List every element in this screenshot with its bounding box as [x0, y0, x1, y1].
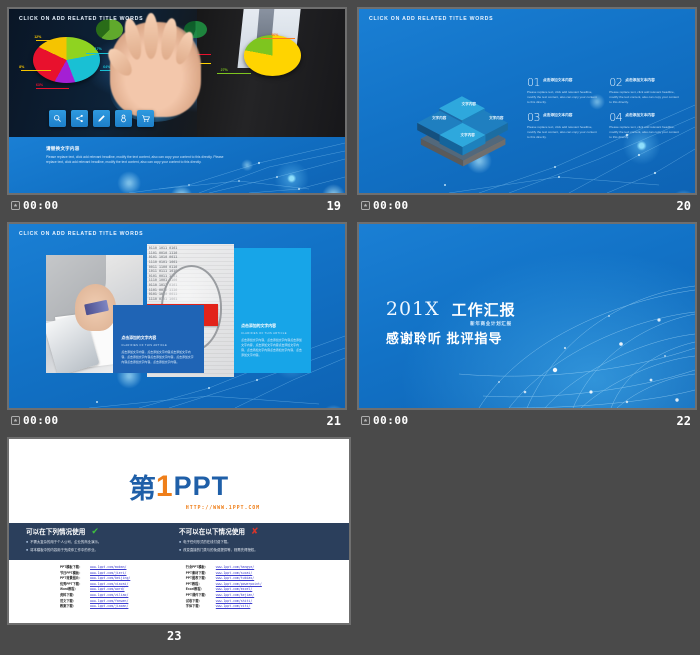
logo-suffix: PPT: [174, 471, 230, 502]
brand-logo: 第 1 PPT HTTP://WWW.1PPT.COM: [9, 461, 349, 513]
iso-label-2: 文字内容: [422, 114, 456, 124]
chart-pct-9: 27%: [221, 68, 228, 72]
slide-cell-21[interactable]: 0110 1011 01011101 0010 11100101 1010 00…: [7, 222, 347, 432]
slide-cell-23[interactable]: 第 1 PPT HTTP://WWW.1PPT.COM 可以在下列情况使用✔ ■…: [7, 437, 347, 647]
isometric-blocks: [406, 83, 520, 168]
slide-23-number: 23: [167, 629, 181, 643]
panel-right-sub: CLARIFIES OF THIS ARTICLE: [241, 332, 304, 335]
slide-22-timer: 00:00: [361, 414, 409, 427]
item-04-label: 点击添加文本内容: [625, 112, 655, 118]
link-row[interactable]: 优秀PPT下载：www.1ppt.com/xiazai/: [60, 581, 130, 586]
link-row[interactable]: Excel教程：www.1ppt.com/excel/: [186, 586, 262, 591]
isometric-diagram: 文字内容 文字内容 文字内容 文字内容: [406, 83, 520, 168]
panel-right-text: 点击添加文字内容，点击添加文字内容点击添加文字内容，点击添加文字内容点击添加文字…: [241, 338, 304, 358]
iso-label-1: 文字内容: [452, 100, 486, 110]
item-02-text: Please replace text, click add relevant …: [609, 90, 681, 105]
slide-21-timer: 00:00: [11, 414, 59, 427]
slide-cell-20[interactable]: 文字内容 文字内容 文字内容 文字内容 01点击添加文本内容 Please re…: [357, 7, 697, 217]
finger-index: [122, 17, 144, 61]
iso-label-4: 文字内容: [451, 131, 485, 141]
slide-23-footer: 23: [7, 625, 347, 647]
item-03-number: 03: [527, 112, 540, 123]
slide-thumbnail-grid: 12% 17% 8% 63% 10% 64% 40% 36% 27%: [0, 0, 700, 655]
allowed-item-2: ■将本模板中的内容用于完成你工作中的作业。: [26, 547, 172, 552]
hand: [110, 22, 201, 117]
slide-cell-19[interactable]: 12% 17% 8% 63% 10% 64% 40% 36% 27%: [7, 7, 347, 217]
slide-19-number: 19: [327, 199, 341, 213]
slide-20-title: CLICK ON ADD RELATED TITLE WORDS: [369, 16, 493, 22]
slide-cell-22[interactable]: 201X 工作汇报 新年商业计划汇报 感谢聆听 批评指导 00:00 22: [357, 222, 697, 432]
chart-pct-4: 63%: [36, 83, 43, 87]
chart-pct-3: 8%: [19, 65, 24, 69]
slide-19-footer: 00:00 19: [7, 195, 347, 217]
logo-prefix: 第: [129, 467, 155, 506]
chart-leader-9: [217, 73, 251, 74]
panel-right-heading: 点击添加的文字内容: [241, 323, 304, 329]
allowed-title: 可以在下列情况使用: [26, 526, 85, 536]
link-row[interactable]: PPT模板下载：www.1ppt.com/moban/: [60, 564, 130, 569]
slide-19-text-band: 请替换文字内容 Please replace text, click add r…: [9, 137, 345, 193]
search-icon[interactable]: [49, 110, 66, 127]
item-04-text: Please replace text, click add relevant …: [609, 125, 681, 140]
slide-19-title: CLICK ON ADD RELATED TITLE WORDS: [19, 16, 143, 22]
slide-19-body-text: Please replace text, click add relevant …: [46, 155, 224, 166]
allowed-column: 可以在下列情况使用✔ ■不需太复杂的用于个人公司、企业的商业演示。 ■将本模板中…: [26, 526, 172, 551]
closing-main-title: 工作汇报: [452, 299, 516, 320]
chart-leader-3: [21, 70, 51, 71]
panel-left-sub: CLARIFIES OF THIS ARTICLE: [121, 344, 195, 347]
item-02-label: 点击添加文本内容: [625, 77, 655, 83]
logo-one: 1: [156, 470, 173, 504]
item-04-number: 04: [609, 112, 622, 123]
resource-links: PPT模板下载：www.1ppt.com/moban/ 节日PPT模板：www.…: [9, 564, 349, 612]
item-04: 04点击添加文本内容 Please replace text, click ad…: [609, 112, 681, 140]
not-allowed-item-1: ■电子任何形式的在线付费下载。: [179, 539, 339, 544]
slide-20-number: 20: [677, 199, 691, 213]
stopwatch-icon: [11, 201, 20, 210]
links-right-column: 行业PPT模板：www.1ppt.com/hangye/ PPT素材下载：www…: [186, 564, 262, 609]
icon-tile-row[interactable]: [49, 110, 154, 127]
link-row[interactable]: 资料下载：www.1ppt.com/ziliao/: [60, 592, 130, 597]
slide-22-number: 22: [677, 414, 691, 428]
link-row[interactable]: Word教程：www.1ppt.com/word/: [60, 586, 130, 591]
finger-middle: [144, 13, 158, 58]
slide-20-timer: 00:00: [361, 199, 409, 212]
link-row[interactable]: 节日PPT模板：www.1ppt.com/jieri/: [60, 570, 130, 575]
link-row[interactable]: 行业PPT模板：www.1ppt.com/hangye/: [186, 564, 262, 569]
cart-icon[interactable]: [137, 110, 154, 127]
item-02: 02点击添加文本内容 Please replace text, click ad…: [609, 77, 681, 105]
item-03-text: Please replace text, click add relevant …: [527, 125, 599, 140]
slide-20-items: 01点击添加文本内容 Please replace text, click ad…: [527, 77, 682, 140]
not-allowed-column: 不可以在以下情况使用✘ ■电子任何形式的在线付费下载。 ■改变直接的门类与的免费…: [179, 526, 339, 551]
closing-subtitle: 新年商业计划汇报: [386, 321, 512, 327]
check-icon: ✔: [91, 527, 99, 536]
not-allowed-item-2: ■改变直接的门类与的免费提供等，则需先得授权。: [179, 547, 339, 552]
slide-21[interactable]: 0110 1011 01011101 0010 11100101 1010 00…: [7, 222, 347, 410]
item-01-text: Please replace text, click add relevant …: [527, 90, 599, 105]
slide-19-body: 请替换文字内容 Please replace text, click add r…: [46, 146, 224, 166]
chart-pct-8: 36%: [271, 33, 278, 37]
stopwatch-icon: [361, 201, 370, 210]
links-left-column: PPT模板下载：www.1ppt.com/moban/ 节日PPT模板：www.…: [60, 564, 130, 609]
user-icon[interactable]: [115, 110, 132, 127]
link-row[interactable]: PPT素材下载：www.1ppt.com/sucai/: [186, 570, 262, 575]
slide-23[interactable]: 第 1 PPT HTTP://WWW.1PPT.COM 可以在下列情况使用✔ ■…: [7, 437, 351, 625]
closing-year: 201X: [386, 298, 440, 320]
pencil-icon[interactable]: [93, 110, 110, 127]
link-row[interactable]: 字体下载：www.1ppt.com/ziti/: [186, 603, 262, 608]
logo-url: HTTP://WWW.1PPT.COM: [186, 505, 260, 511]
link-row[interactable]: PPT背景图片：www.1ppt.com/beijing/: [60, 575, 130, 580]
chart-leader-4: [36, 88, 70, 89]
text-panel-right: 点击添加的文字内容 CLARIFIES OF THIS ARTICLE 点击添加…: [234, 248, 311, 373]
slide-22[interactable]: 201X 工作汇报 新年商业计划汇报 感谢聆听 批评指导: [357, 222, 697, 410]
slide-19-photo: 12% 17% 8% 63% 10% 64% 40% 36% 27%: [9, 9, 345, 137]
slide-19[interactable]: 12% 17% 8% 63% 10% 64% 40% 36% 27%: [7, 7, 347, 195]
slide-21-footer: 00:00 21: [7, 410, 347, 432]
slide-22-footer: 00:00 22: [357, 410, 697, 432]
slide-22-closing: 201X 工作汇报 新年商业计划汇报 感谢聆听 批评指导: [386, 298, 516, 347]
chart-pct-1: 12%: [34, 35, 41, 39]
slide-21-title: CLICK ON ADD RELATED TITLE WORDS: [19, 231, 143, 237]
link-row[interactable]: PPT课件下载：www.1ppt.com/kejian/: [186, 592, 262, 597]
cross-icon: ✘: [251, 527, 259, 536]
item-01-label: 点击添加文本内容: [543, 77, 573, 83]
item-01-number: 01: [527, 77, 540, 88]
iso-label-3: 文字内容: [479, 114, 513, 124]
slide-19-body-heading: 请替换文字内容: [46, 146, 224, 152]
closing-thanks: 感谢聆听 批评指导: [386, 328, 516, 347]
item-01: 01点击添加文本内容 Please replace text, click ad…: [527, 77, 599, 105]
share-icon[interactable]: [71, 110, 88, 127]
link-row[interactable]: PPT图表下载：www.1ppt.com/tubiao/: [186, 575, 262, 580]
allowed-item-1: ■不需太复杂的用于个人公司、企业的商业演示。: [26, 539, 172, 544]
panel-left-heading: 点击添加的文字内容: [121, 335, 195, 341]
link-row[interactable]: PPT教程：www.1ppt.com/powerpoint/: [186, 581, 262, 586]
chart-leader-1: [36, 40, 66, 41]
not-allowed-title: 不可以在以下情况使用: [179, 526, 245, 536]
slide-20-footer: 00:00 20: [357, 195, 697, 217]
slide-20[interactable]: 文字内容 文字内容 文字内容 文字内容 01点击添加文本内容 Please re…: [357, 7, 697, 195]
stopwatch-icon: [361, 416, 370, 425]
slide-21-number: 21: [327, 414, 341, 428]
stopwatch-icon: [11, 416, 20, 425]
item-03-label: 点击添加文本内容: [543, 112, 573, 118]
pie-chart-large-left: [33, 37, 100, 83]
link-row[interactable]: 范文下载：www.1ppt.com/fanwen/: [60, 598, 130, 603]
item-03: 03点击添加文本内容 Please replace text, click ad…: [527, 112, 599, 140]
text-panel-left: 点击添加的文字内容 CLARIFIES OF THIS ARTICLE 点击添加…: [113, 305, 204, 373]
link-row[interactable]: 试卷下载：www.1ppt.com/shiti/: [186, 598, 262, 603]
pie-chart-yellow-right: [244, 35, 301, 76]
chart-leader-8: [261, 38, 295, 39]
slide-19-timer: 00:00: [11, 199, 59, 212]
item-02-number: 02: [609, 77, 622, 88]
panel-left-text: 点击添加文字内容，点击添加文字内容点击添加文字内容，点击添加文字内容点击添加文字…: [121, 350, 195, 365]
chart-pct-2: 17%: [95, 47, 102, 51]
link-row[interactable]: 教案下载：www.1ppt.com/jiaoan/: [60, 603, 130, 608]
license-terms-band: 可以在下列情况使用✔ ■不需太复杂的用于个人公司、企业的商业演示。 ■将本模板中…: [9, 523, 349, 560]
license-page: 第 1 PPT HTTP://WWW.1PPT.COM 可以在下列情况使用✔ ■…: [9, 439, 349, 623]
